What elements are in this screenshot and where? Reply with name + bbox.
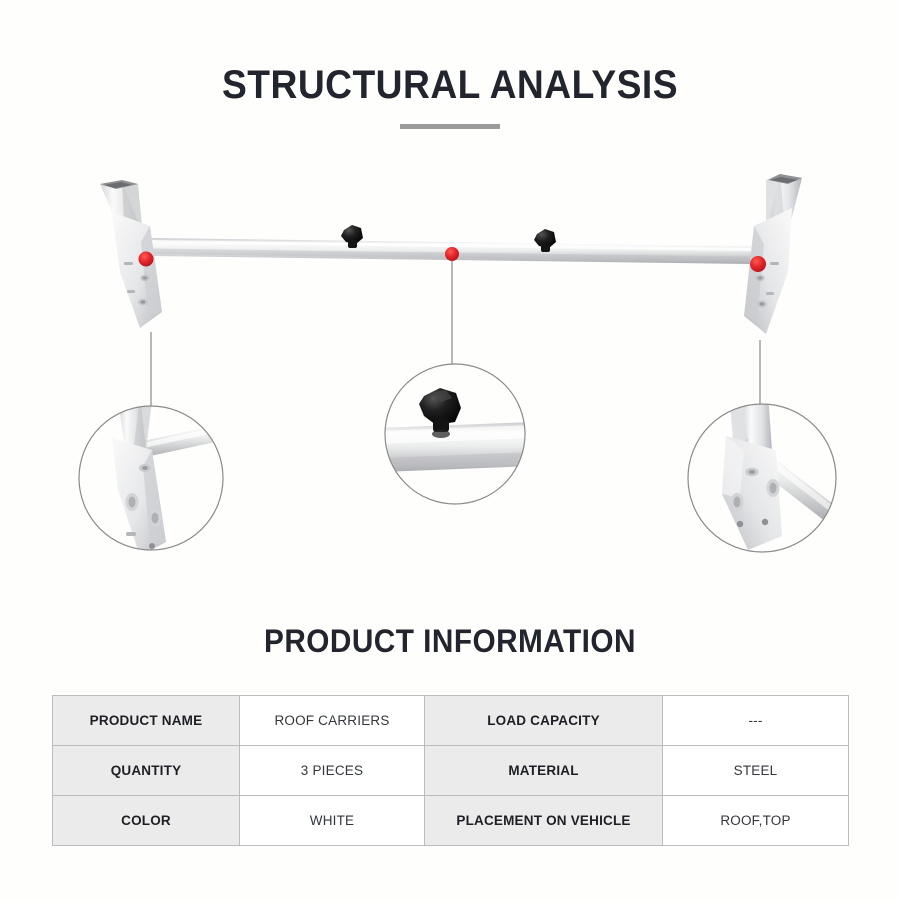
center-knob-marker	[445, 247, 459, 261]
table-row: QUANTITY 3 PIECES MATERIAL STEEL	[53, 746, 849, 796]
spec-value: 3 PIECES	[240, 746, 425, 796]
left-bracket-detail-callout	[79, 396, 253, 556]
center-knob-detail-callout	[380, 364, 533, 504]
spec-value: WHITE	[240, 796, 425, 846]
left-bracket-marker	[139, 252, 154, 267]
right-bracket-detail-callout	[688, 394, 838, 552]
page-title: STRUCTURAL ANALYSIS	[32, 62, 869, 108]
spec-value: ---	[663, 696, 849, 746]
spec-label: COLOR	[53, 796, 240, 846]
title-divider	[400, 124, 500, 129]
leader-lines	[151, 246, 760, 406]
right-bracket-marker	[750, 256, 766, 272]
table-row: PRODUCT NAME ROOF CARRIERS LOAD CAPACITY…	[53, 696, 849, 746]
spec-label: PRODUCT NAME	[53, 696, 240, 746]
spec-label: LOAD CAPACITY	[425, 696, 663, 746]
product-information-title: PRODUCT INFORMATION	[32, 622, 869, 660]
product-specification-table: PRODUCT NAME ROOF CARRIERS LOAD CAPACITY…	[52, 695, 849, 846]
spec-value: ROOF CARRIERS	[240, 696, 425, 746]
spec-value: ROOF,TOP	[663, 796, 849, 846]
spec-label: PLACEMENT ON VEHICLE	[425, 796, 663, 846]
product-illustration	[0, 150, 900, 590]
left-end-bracket	[100, 180, 162, 328]
spec-value: STEEL	[663, 746, 849, 796]
spec-label: QUANTITY	[53, 746, 240, 796]
spec-label: MATERIAL	[425, 746, 663, 796]
right-end-bracket	[744, 174, 802, 334]
table-row: COLOR WHITE PLACEMENT ON VEHICLE ROOF,TO…	[53, 796, 849, 846]
infographic-page: STRUCTURAL ANALYSIS	[0, 0, 900, 900]
